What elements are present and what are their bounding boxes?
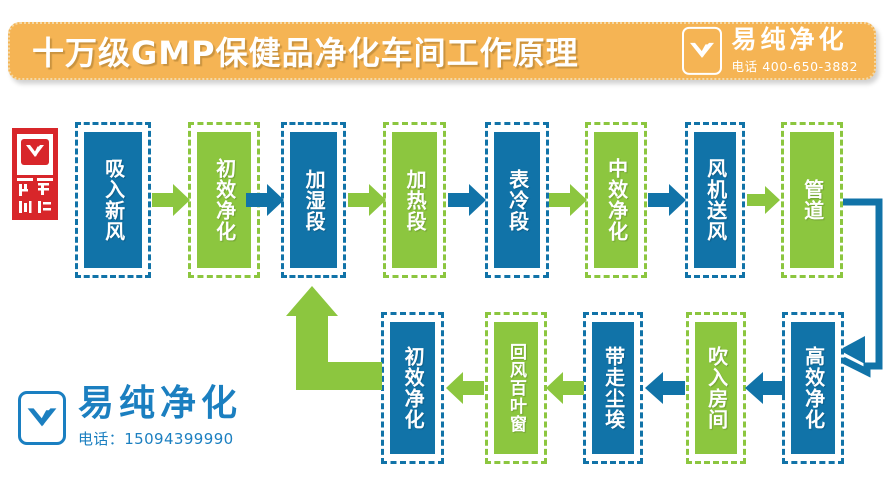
flow-node-label: 回风百叶窗 (507, 343, 525, 433)
footer-brand-phone: 电话：15094399990 (78, 428, 234, 449)
header-brand-phone: 电话 400-650-3882 (731, 56, 858, 75)
flow-node-label: 风机送风 (704, 158, 725, 242)
yichun-w-mark-icon (18, 391, 66, 445)
flow-node-fill: 加湿段 (290, 132, 337, 268)
red-company-seal (8, 126, 62, 222)
footer-brand-text: 易纯净化 电话：15094399990 (78, 386, 242, 449)
flow-node-bottom-4[interactable]: 高效净化 (782, 312, 844, 464)
flow-node-fill: 初效净化 (390, 322, 435, 454)
flow-node-fill: 吹入房间 (695, 322, 737, 454)
flow-node-top-4[interactable]: 表冷段 (485, 122, 549, 278)
flow-node-top-2[interactable]: 加湿段 (281, 122, 346, 278)
flow-arrow-top-6 (747, 186, 780, 218)
flow-node-fill: 表冷段 (494, 132, 540, 268)
flow-arrow-top-1 (246, 184, 284, 220)
flow-node-label: 高效净化 (802, 346, 823, 430)
flow-node-label: 初效净化 (213, 158, 234, 242)
flow-node-label: 吹入房间 (705, 346, 726, 430)
flow-node-top-3[interactable]: 加热段 (383, 122, 446, 278)
flow-node-fill: 加热段 (392, 132, 437, 268)
flow-node-label: 初效净化 (402, 346, 423, 430)
flow-arrow-bottom-1 (546, 372, 584, 408)
header-brand-name: 易纯净化 (731, 27, 847, 53)
flow-node-fill: 带走尘埃 (592, 322, 634, 454)
flow-node-bottom-3[interactable]: 吹入房间 (686, 312, 746, 464)
flow-node-fill: 风机送风 (694, 132, 736, 268)
flow-arrow-top-0 (152, 184, 190, 220)
flow-node-fill: 高效净化 (791, 322, 835, 454)
flow-arrow-bottom-3 (745, 372, 785, 408)
flow-node-bottom-1[interactable]: 回风百叶窗 (485, 312, 547, 464)
flow-node-top-7[interactable]: 管道 (781, 122, 843, 278)
flow-node-fill: 回风百叶窗 (494, 322, 538, 454)
flow-node-top-5[interactable]: 中效净化 (585, 122, 647, 278)
flow-node-label: 吸入新风 (102, 158, 123, 242)
header-brand-text: 易纯净化 电话 400-650-3882 (731, 27, 858, 75)
footer-brand-name: 易纯净化 (78, 386, 242, 422)
flow-arrow-top-2 (348, 184, 386, 220)
flow-node-fill: 吸入新风 (84, 132, 142, 268)
flow-return-arrow-up (286, 286, 382, 394)
flow-node-top-6[interactable]: 风机送风 (685, 122, 745, 278)
flow-node-top-0[interactable]: 吸入新风 (75, 122, 151, 278)
header-brand: 易纯净化 电话 400-650-3882 (682, 27, 858, 75)
flow-node-label: 管道 (801, 179, 822, 221)
flow-node-label: 加热段 (404, 169, 425, 232)
flow-arrow-top-5 (648, 184, 686, 220)
flow-node-fill: 初效净化 (197, 132, 251, 268)
flow-arrow-top-3 (448, 184, 486, 220)
flow-node-bottom-0[interactable]: 初效净化 (381, 312, 444, 464)
flow-node-fill: 中效净化 (594, 132, 638, 268)
flow-node-label: 中效净化 (605, 158, 626, 242)
flow-node-label: 加湿段 (303, 169, 324, 232)
flow-node-fill: 管道 (790, 132, 834, 268)
header-banner: 十万级GMP保健品净化车间工作原理 易纯净化 电话 400-650-3882 (8, 22, 876, 80)
flow-node-label: 表冷段 (506, 169, 527, 232)
flow-arrow-top-4 (549, 184, 587, 220)
yichun-w-mark-icon (682, 27, 722, 75)
page-title: 十万级GMP保健品净化车间工作原理 (32, 28, 579, 74)
flow-arrow-bottom-0 (446, 372, 484, 408)
flow-wrap-connector (843, 196, 886, 382)
flow-node-bottom-2[interactable]: 带走尘埃 (583, 312, 643, 464)
footer-logo: 易纯净化 电话：15094399990 (18, 386, 242, 449)
flow-arrow-bottom-2 (645, 372, 685, 408)
flow-node-label: 带走尘埃 (602, 346, 623, 430)
